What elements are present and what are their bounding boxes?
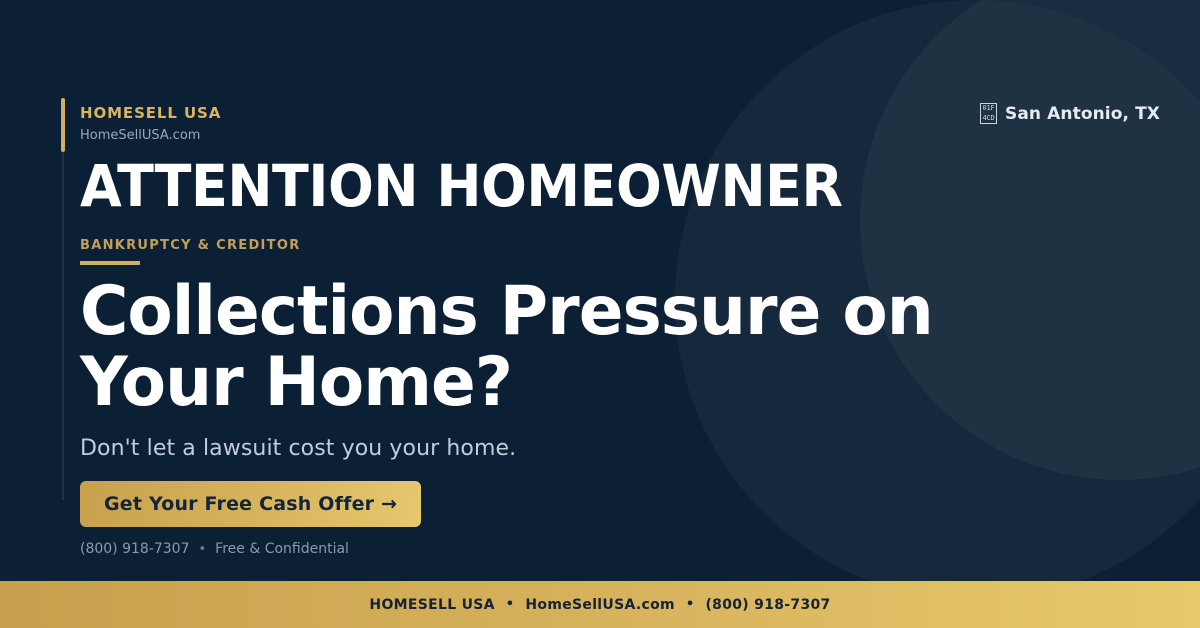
page-title: Collections Pressure on Your Home? — [80, 276, 992, 419]
attention-line: ATTENTION HOMEOWNER — [80, 157, 843, 215]
tofu-codepoint-bottom: 4CD — [982, 114, 994, 124]
subheadline: Don't let a lawsuit cost you your home. — [80, 436, 516, 461]
footer-content: HOMESELL USA • HomeSellUSA.com • (800) 9… — [369, 597, 830, 613]
vertical-accent-line — [62, 152, 64, 500]
reassurance-line: (800) 918-7307 • Free & Confidential — [80, 541, 349, 557]
tofu-codepoint-top: 01F — [982, 104, 994, 114]
eyebrow-label: BANKRUPTCY & CREDITOR — [80, 238, 301, 253]
location-pin-icon: 01F 4CD — [980, 103, 997, 124]
footer-separator-dot-icon-2: • — [686, 597, 695, 612]
footer-website[interactable]: HomeSellUSA.com — [525, 597, 674, 613]
get-free-cash-offer-button[interactable]: Get Your Free Cash Offer → — [80, 481, 421, 527]
content-area: HOMESELL USA HomeSellUSA.com 01F 4CD San… — [80, 0, 1120, 581]
location-badge: 01F 4CD San Antonio, TX — [980, 103, 1160, 124]
gold-accent-bar — [61, 98, 65, 152]
footer-separator-dot-icon-1: • — [506, 597, 515, 612]
brand-block: HOMESELL USA HomeSellUSA.com — [80, 104, 221, 145]
location-label: San Antonio, TX — [1005, 104, 1160, 124]
eyebrow-rule — [80, 261, 140, 265]
phone-number[interactable]: (800) 918-7307 — [80, 541, 190, 557]
separator-dot-icon: • — [199, 542, 207, 557]
footer-brand: HOMESELL USA — [369, 597, 494, 613]
brand-website: HomeSellUSA.com — [80, 126, 221, 146]
ad-creative: HOMESELL USA HomeSellUSA.com 01F 4CD San… — [0, 0, 1200, 628]
brand-name: HOMESELL USA — [80, 104, 221, 123]
confidential-note: Free & Confidential — [215, 541, 349, 557]
footer-phone[interactable]: (800) 918-7307 — [705, 597, 830, 613]
footer-bar: HOMESELL USA • HomeSellUSA.com • (800) 9… — [0, 581, 1200, 628]
